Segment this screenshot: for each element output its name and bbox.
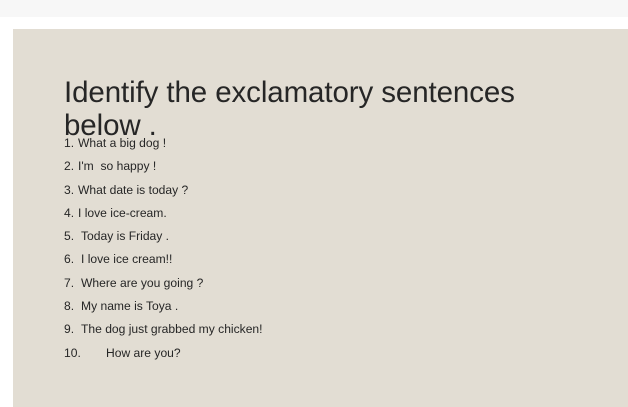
list-item: 6. I love ice cream!!	[64, 252, 604, 275]
list-item-text: The dog just grabbed my chicken!	[81, 322, 263, 336]
list-item: 7. Where are you going ?	[64, 276, 604, 299]
list-item-text: How are you?	[106, 346, 181, 360]
list-item-text: I'm so happy !	[78, 159, 156, 173]
list-item-text: What date is today ?	[78, 183, 188, 197]
slide-canvas[interactable]: Identify the exclamatory sentences below…	[13, 29, 628, 407]
list-item-number: 5.	[64, 229, 81, 243]
list-item: 8. My name is Toya .	[64, 299, 604, 322]
list-item-number: 10.	[64, 346, 106, 360]
list-item-text: What a big dog !	[78, 136, 166, 150]
list-item: 9. The dog just grabbed my chicken!	[64, 322, 604, 345]
list-item: 3. What date is today ?	[64, 183, 604, 206]
list-item: 10. How are you?	[64, 346, 604, 369]
list-item-text: Where are you going ?	[81, 276, 203, 290]
list-item: 5. Today is Friday .	[64, 229, 604, 252]
list-item: 2. I'm so happy !	[64, 159, 604, 182]
page-title: Identify the exclamatory sentences below…	[64, 76, 584, 142]
list-item-number: 4.	[64, 206, 78, 220]
list-item: 1. What a big dog !	[64, 136, 604, 159]
list-item-number: 2.	[64, 159, 78, 173]
list-item-text: I love ice-cream.	[78, 206, 167, 220]
list-item-text: I love ice cream!!	[81, 252, 172, 266]
app-viewport: Identify the exclamatory sentences below…	[0, 0, 628, 407]
list-item-number: 3.	[64, 183, 78, 197]
sentence-list: 1. What a big dog ! 2. I'm so happy ! 3.…	[64, 136, 604, 369]
list-item-number: 8.	[64, 299, 81, 313]
list-item-number: 7.	[64, 276, 81, 290]
list-item-text: Today is Friday .	[81, 229, 169, 243]
list-item-number: 1.	[64, 136, 78, 150]
list-item-number: 9.	[64, 322, 81, 336]
top-toolbar-strip	[0, 0, 628, 17]
list-item: 4. I love ice-cream.	[64, 206, 604, 229]
list-item-text: My name is Toya .	[81, 299, 178, 313]
list-item-number: 6.	[64, 252, 81, 266]
